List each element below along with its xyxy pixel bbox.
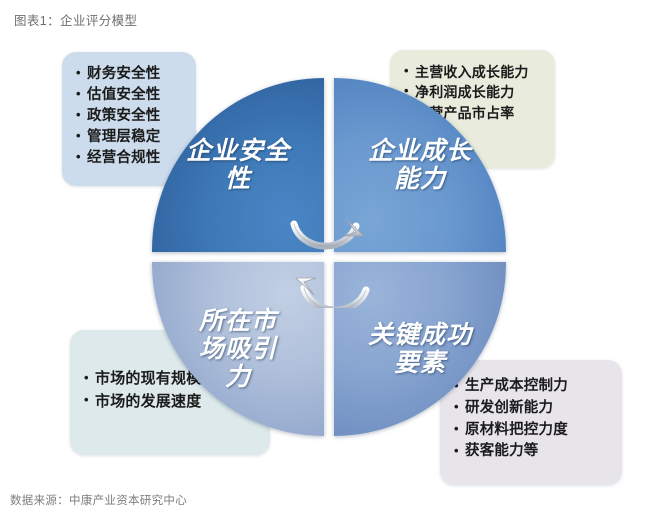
quadrant-label: 所在市场吸引力: [190, 307, 286, 391]
quadrant-market-attractiveness[interactable]: 所在市场吸引力: [152, 262, 324, 436]
quadrant-enterprise-growth[interactable]: 企业成长能力: [334, 78, 506, 252]
quadrant-label: 企业安全性: [179, 137, 297, 193]
list-item: 获客能力等: [454, 441, 608, 463]
quadrant-enterprise-safety[interactable]: 企业安全性: [152, 78, 324, 252]
quadrant-key-success-factors[interactable]: 关键成功要素: [334, 262, 506, 436]
figure-source: 数据来源：中康产业资本研究中心: [10, 492, 187, 508]
quadrant-circle: 企业安全性 企业成长能力 所在市场吸引力 关键成功要素: [152, 78, 506, 436]
scoring-model-diagram: 财务安全性 估值安全性 政策安全性 管理层稳定 经营合规性 主营收入成长能力 净…: [0, 30, 669, 485]
figure-title: 图表1：企业评分模型: [14, 10, 137, 29]
quadrant-label: 企业成长能力: [361, 137, 479, 193]
quadrant-label: 关键成功要素: [361, 321, 479, 377]
